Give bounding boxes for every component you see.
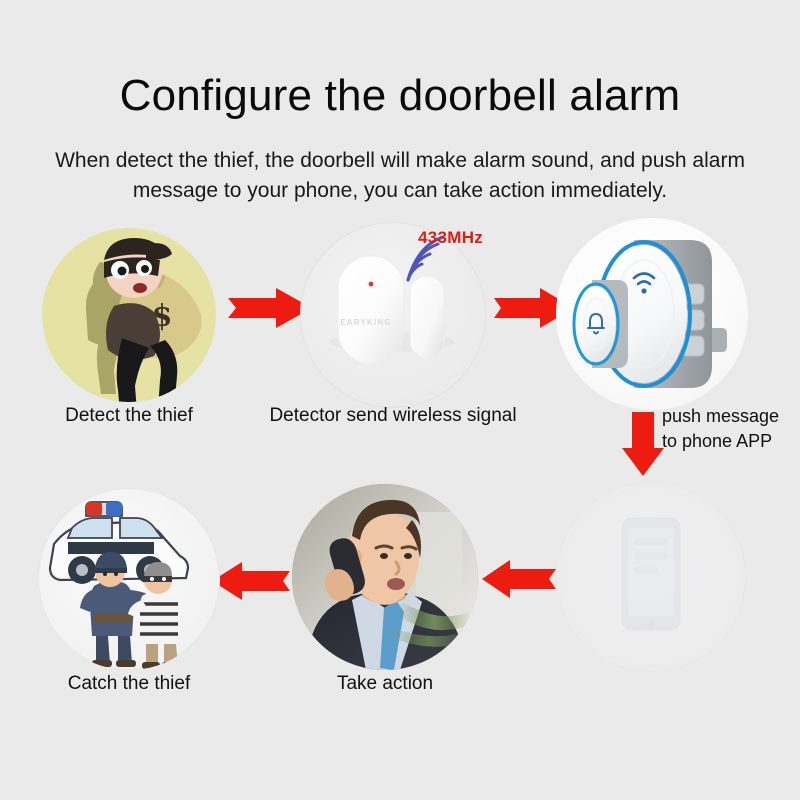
infographic-page: Configure the doorbell alarm When detect…: [0, 0, 800, 800]
arrow-left-icon-action-to-catch: [212, 562, 290, 600]
thief-icon: $: [42, 228, 216, 402]
police-catching-thief-icon: [38, 488, 220, 670]
caption-detector-signal: Detector send wireless signal: [258, 404, 528, 428]
badge-433mhz: 433MHz: [418, 228, 483, 248]
caption-detect-thief: Detect the thief: [42, 404, 216, 428]
step-doorbell-illustration: [556, 218, 748, 410]
push-message-note: push message to phone APP: [662, 404, 800, 454]
push-note-line-2: to phone APP: [662, 429, 800, 454]
step-phone-app-illustration: [556, 482, 746, 672]
man-on-phone-photo: [292, 484, 478, 670]
arrow-left-icon-app-to-action: [482, 560, 556, 598]
page-title: Configure the doorbell alarm: [0, 68, 800, 124]
step-detector-illustration: EARYKING: [300, 222, 486, 408]
caption-catch-thief: Catch the thief: [38, 672, 220, 696]
step-take-action-photo: [292, 484, 478, 670]
wireless-doorbell-icon: [556, 218, 748, 410]
caption-take-action: Take action: [292, 672, 478, 696]
push-note-line-1: push message: [662, 404, 800, 429]
smartphone-app-icon: [556, 482, 746, 672]
detector-brand-label: EARYKING: [300, 318, 432, 327]
page-subtitle: When detect the thief, the doorbell will…: [30, 146, 770, 206]
arrow-down-icon-doorbell-to-app: [622, 412, 664, 476]
step-detect-thief-illustration: $: [42, 228, 216, 402]
step-catch-thief-illustration: [38, 488, 220, 670]
